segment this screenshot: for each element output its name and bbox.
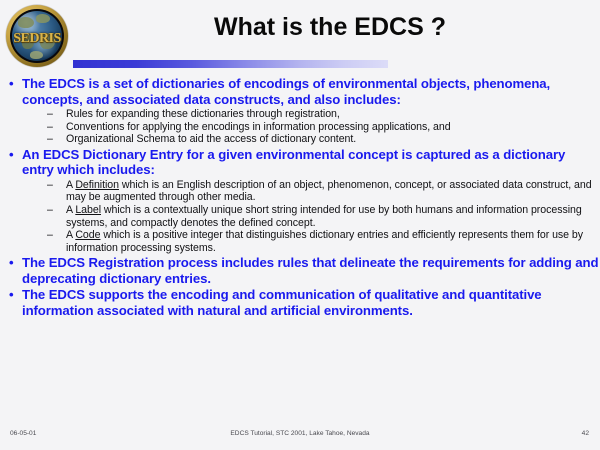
sub-bullet-text-post: which is an English description of an ob… (66, 179, 592, 204)
bullet-dash-icon: – (47, 133, 53, 146)
sedris-logo: SEDRIS (6, 5, 68, 67)
bullet-dot-icon: • (9, 255, 14, 271)
bullet-dash-icon: – (47, 108, 53, 121)
footer-caption: EDCS Tutorial, STC 2001, Lake Tahoe, Nev… (0, 430, 600, 437)
sub-bullet-text-pre: A (66, 179, 75, 191)
bullet-text: An EDCS Dictionary Entry for a given env… (22, 147, 565, 178)
sub-bullet-text: Rules for expanding these dictionaries t… (66, 108, 340, 120)
sub-bullet-item: – Rules for expanding these dictionaries… (44, 108, 600, 121)
slide-body: • The EDCS is a set of dictionaries of e… (0, 76, 600, 406)
bullet-item: • The EDCS supports the encoding and com… (0, 287, 600, 318)
defined-term: Code (75, 229, 100, 241)
bullet-dash-icon: – (47, 204, 53, 217)
sub-bullet-text: Organizational Schema to aid the access … (66, 133, 356, 145)
slide-header: SEDRIS What is the EDCS ? (0, 0, 600, 72)
sub-bullet-text-pre: A (66, 229, 75, 241)
bullet-item: • The EDCS is a set of dictionaries of e… (0, 76, 600, 146)
logo-wordmark: SEDRIS (6, 32, 68, 46)
bullet-dash-icon: – (47, 179, 53, 192)
sub-bullet-item: – Conventions for applying the encodings… (44, 121, 600, 134)
bullet-text: The EDCS supports the encoding and commu… (22, 287, 542, 318)
bullet-dot-icon: • (9, 147, 14, 163)
bullet-dash-icon: – (47, 229, 53, 242)
slide-footer: 06-05-01 EDCS Tutorial, STC 2001, Lake T… (0, 428, 600, 444)
page-number: 42 (582, 430, 589, 437)
page-title: What is the EDCS ? (70, 13, 590, 42)
bullet-item: • The EDCS Registration process includes… (0, 255, 600, 286)
bullet-item: • An EDCS Dictionary Entry for a given e… (0, 147, 600, 255)
bullet-list-level2: – A Definition which is an English descr… (22, 179, 600, 255)
title-gradient-rule (73, 60, 388, 68)
bullet-list-level2: – Rules for expanding these dictionaries… (22, 108, 600, 146)
bullet-dot-icon: • (9, 287, 14, 303)
bullet-list-level1: • The EDCS is a set of dictionaries of e… (0, 76, 600, 318)
defined-term: Definition (75, 179, 119, 191)
sub-bullet-text: Conventions for applying the encodings i… (66, 121, 451, 133)
slide: SEDRIS What is the EDCS ? • The EDCS is … (0, 0, 600, 450)
sub-bullet-text-post: which is a contextually unique short str… (66, 204, 582, 229)
sub-bullet-item: – Organizational Schema to aid the acces… (44, 133, 600, 146)
bullet-text: The EDCS Registration process includes r… (22, 255, 598, 286)
sub-bullet-text-pre: A (66, 204, 75, 216)
defined-term: Label (75, 204, 101, 216)
sub-bullet-item: – A Definition which is an English descr… (44, 179, 600, 204)
bullet-text: The EDCS is a set of dictionaries of enc… (22, 76, 550, 107)
bullet-dash-icon: – (47, 121, 53, 134)
bullet-dot-icon: • (9, 76, 14, 92)
sub-bullet-item: – A Label which is a contextually unique… (44, 204, 600, 229)
sub-bullet-item: – A Code which is a positive integer tha… (44, 229, 600, 254)
sub-bullet-text-post: which is a positive integer that disting… (66, 229, 583, 254)
